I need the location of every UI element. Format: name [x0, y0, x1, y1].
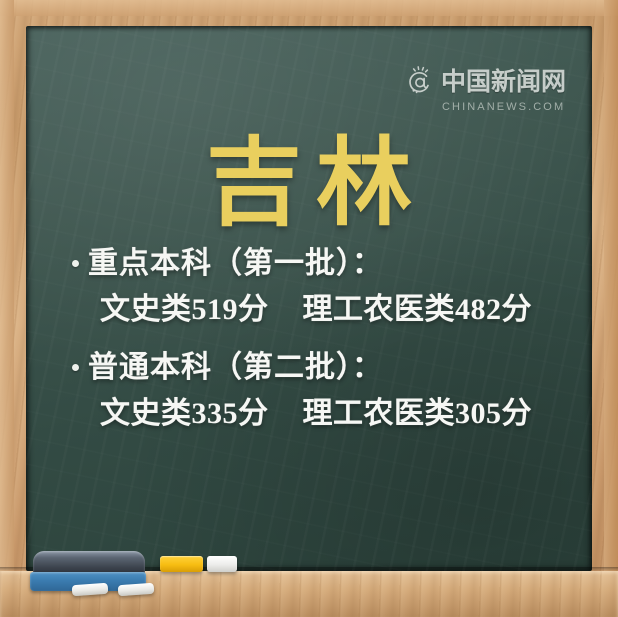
bullet-dot-icon: [72, 364, 79, 371]
frame-bevel-left: [0, 0, 14, 617]
watermark-brand-en: CHINANEWS.COM: [442, 102, 565, 113]
score-value-liberal-arts: 文史类519分: [100, 286, 269, 335]
frame-bevel-top: [0, 0, 618, 16]
score-group: 重点本科（第一批）： 文史类519分 理工农医类482分: [72, 241, 572, 335]
watermark-logo-row: 中国新闻网: [404, 66, 566, 98]
score-group-values: 文史类335分 理工农医类305分: [72, 390, 572, 439]
score-group: 普通本科（第二批）： 文史类335分 理工农医类305分: [72, 345, 572, 439]
score-group-heading: 重点本科（第一批）：: [72, 241, 572, 286]
score-value-liberal-arts: 文史类335分: [100, 390, 269, 439]
chalkboard-surface: 中国新闻网 CHINANEWS.COM 吉林 重点本科（第一批）： 文史类519…: [26, 26, 592, 571]
score-list: 重点本科（第一批）： 文史类519分 理工农医类482分 普通本科（第二批）： …: [72, 241, 572, 448]
blackboard-frame: 中国新闻网 CHINANEWS.COM 吉林 重点本科（第一批）： 文史类519…: [0, 0, 618, 617]
frame-bevel-right: [604, 0, 618, 617]
score-group-heading-label: 普通本科（第二批）：: [88, 345, 383, 390]
score-group-values: 文史类519分 理工农医类482分: [72, 286, 572, 335]
score-value-science: 理工农医类482分: [303, 286, 533, 335]
score-group-heading: 普通本科（第二批）：: [72, 345, 572, 390]
score-group-heading-label: 重点本科（第一批）：: [88, 241, 383, 286]
watermark-brand-cn: 中国新闻网: [441, 70, 566, 95]
white-chalk-stick: [207, 556, 237, 572]
score-value-science: 理工农医类305分: [303, 390, 533, 439]
bullet-dot-icon: [72, 260, 79, 267]
yellow-chalk-stick: [160, 556, 203, 572]
chinanews-watermark: 中国新闻网 CHINANEWS.COM: [404, 66, 566, 113]
at-sign-icon: [404, 66, 436, 98]
page-title: 吉林: [26, 134, 592, 235]
